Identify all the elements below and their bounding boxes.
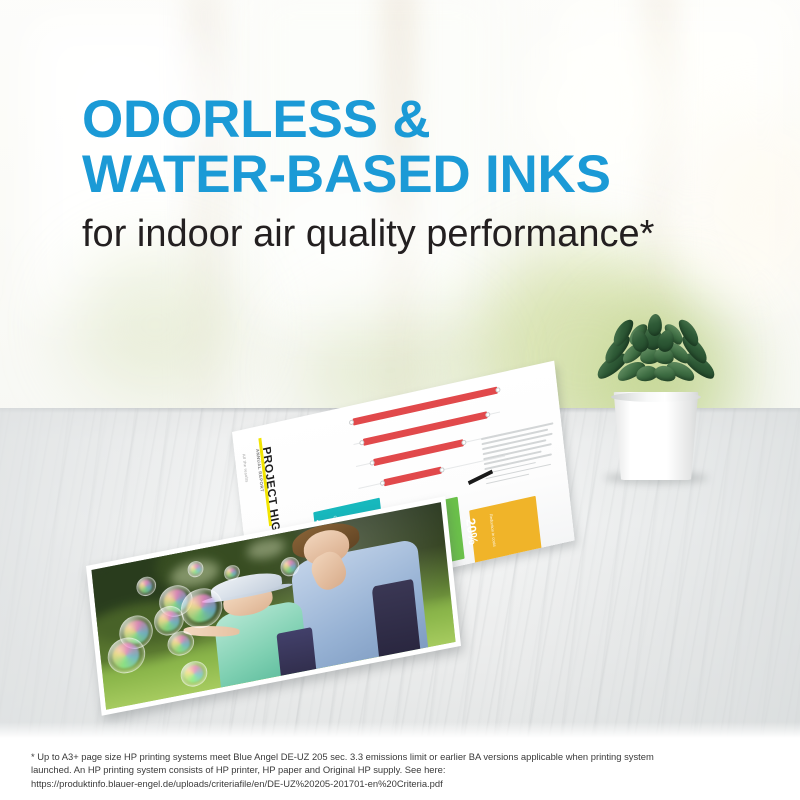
chart-bar bbox=[384, 467, 442, 486]
subheadline: for indoor air quality performance* bbox=[82, 212, 782, 256]
marketing-banner: All the results ANNUAL REPORT PROJECT HI… bbox=[0, 0, 800, 800]
footnote: * Up to A3+ page size HP printing system… bbox=[31, 750, 776, 790]
foliage-blur-left bbox=[70, 250, 240, 400]
footnote-line-2: launched. An HP printing system consists… bbox=[31, 763, 776, 776]
succulent-plant bbox=[596, 300, 716, 480]
stat-card-caption: Reduction in costs bbox=[488, 513, 499, 564]
footnote-url: https://produktinfo.blauer-engel.de/uplo… bbox=[31, 777, 776, 790]
chart-bar-endpoint bbox=[461, 440, 466, 446]
brochure-side-note: All the results bbox=[242, 453, 250, 483]
chart-bar-endpoint bbox=[439, 467, 444, 473]
chart-bar-endpoint bbox=[495, 387, 500, 393]
brochure-body-text bbox=[481, 422, 559, 488]
footnote-band-fade bbox=[0, 722, 800, 738]
chart-bar bbox=[373, 439, 464, 465]
footnote-line-1: * Up to A3+ page size HP printing system… bbox=[31, 750, 776, 763]
pot-rim bbox=[611, 392, 701, 402]
photo-woman-trousers bbox=[371, 579, 420, 657]
chart-bar-endpoint bbox=[485, 412, 490, 418]
headline: ODORLESS & WATER-BASED INKS bbox=[82, 92, 742, 202]
headline-line-1: ODORLESS & bbox=[82, 92, 742, 147]
photo-child-trousers bbox=[276, 627, 315, 676]
plant-pot bbox=[610, 392, 702, 480]
headline-line-2: WATER-BASED INKS bbox=[82, 147, 742, 202]
stat-card-value: 20% bbox=[463, 517, 481, 546]
